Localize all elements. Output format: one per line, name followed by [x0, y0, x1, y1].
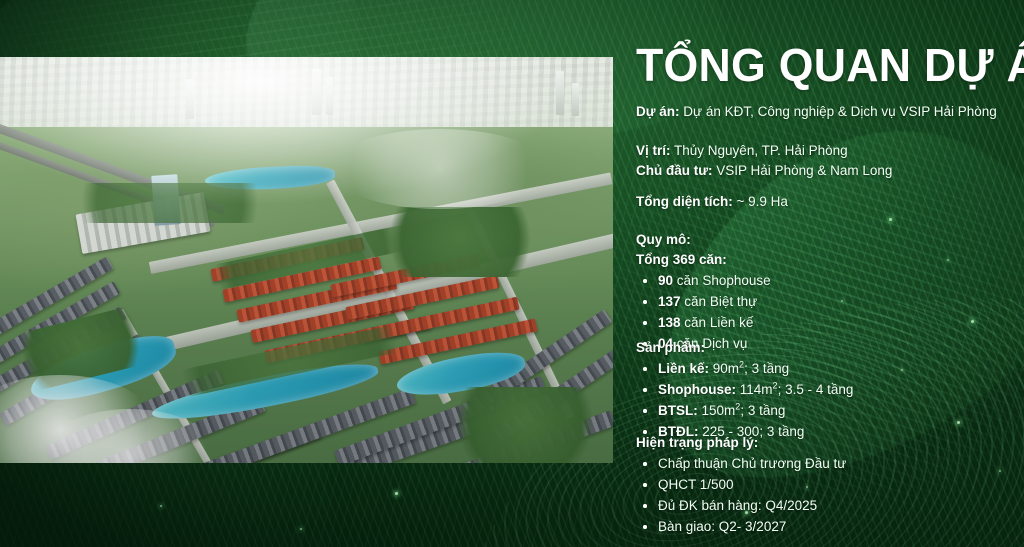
area-group: Tổng diện tích: ~ 9.9 Ha	[636, 192, 788, 212]
project-label: Dự án:	[636, 104, 680, 119]
slide-root: TỔNG QUAN DỰ ÁN Dự án: Dự án KĐT, Công n…	[0, 0, 1024, 547]
location-label: Vị trí:	[636, 143, 671, 158]
product-floors: ; 3 tầng	[740, 403, 785, 418]
product-floors: ; 3 tầng	[744, 361, 789, 376]
list-item: Chấp thuận Chủ trương Đầu tư	[636, 453, 846, 474]
project-overview-panel: TỔNG QUAN DỰ ÁN Dự án: Dự án KĐT, Công n…	[636, 0, 1024, 547]
scale-text: căn Liền kế	[684, 315, 753, 330]
location-investor-group: Vị trí: Thủy Nguyên, TP. Hải Phòng Chủ đ…	[636, 141, 892, 181]
scale-count: 138	[658, 315, 681, 330]
list-item: 138 căn Liền kế	[636, 312, 771, 333]
products-heading: Sản phẩm:	[636, 338, 853, 358]
page-title: TỔNG QUAN DỰ ÁN	[636, 42, 1024, 88]
list-item: 90 căn Shophouse	[636, 270, 771, 291]
legal-group: Hiện trạng pháp lý: Chấp thuận Chủ trươn…	[636, 433, 846, 537]
scale-text: căn Shophouse	[677, 273, 771, 288]
product-label: Shophouse:	[658, 382, 736, 397]
list-item: 137 căn Biệt thự	[636, 291, 771, 312]
area-line: Tổng diện tích: ~ 9.9 Ha	[636, 192, 788, 212]
area-value: ~ 9.9 Ha	[737, 194, 788, 209]
scale-subheading: Tổng 369 căn:	[636, 250, 771, 270]
area-label: Tổng diện tích:	[636, 194, 733, 209]
investor-value: VSIP Hải Phòng & Nam Long	[716, 163, 892, 178]
products-list: Liền kế: 90m2; 3 tầng Shophouse: 114m2; …	[636, 358, 853, 442]
products-group: Sản phẩm: Liền kế: 90m2; 3 tầng Shophous…	[636, 338, 853, 442]
scale-heading: Quy mô:	[636, 230, 771, 250]
project-value: Dự án KĐT, Công nghiệp & Dịch vụ VSIP Hả…	[683, 104, 996, 119]
legal-list: Chấp thuận Chủ trương Đầu tư QHCT 1/500 …	[636, 453, 846, 537]
product-label: Liền kế:	[658, 361, 709, 376]
scale-count: 90	[658, 273, 673, 288]
product-floors: ; 3.5 - 4 tầng	[778, 382, 854, 397]
project-line-group: Dự án: Dự án KĐT, Công nghiệp & Dịch vụ …	[636, 102, 997, 122]
product-label: BTSL:	[658, 403, 698, 418]
product-area: 114m	[740, 382, 773, 397]
list-item: BTSL: 150m2; 3 tầng	[636, 400, 853, 421]
list-item: Bàn giao: Q2- 3/2027	[636, 516, 846, 537]
list-item: Shophouse: 114m2; 3.5 - 4 tầng	[636, 379, 853, 400]
location-value: Thủy Nguyên, TP. Hải Phòng	[674, 143, 848, 158]
render-shading	[0, 57, 613, 463]
scale-count: 137	[658, 294, 681, 309]
product-area: 150m	[702, 403, 736, 418]
investor-line: Chủ đầu tư: VSIP Hải Phòng & Nam Long	[636, 161, 892, 181]
list-item: Đủ ĐK bán hàng: Q4/2025	[636, 495, 846, 516]
legal-heading: Hiện trạng pháp lý:	[636, 433, 846, 453]
list-item: QHCT 1/500	[636, 474, 846, 495]
investor-label: Chủ đầu tư:	[636, 163, 713, 178]
list-item: Liền kế: 90m2; 3 tầng	[636, 358, 853, 379]
scale-text: căn Biệt thự	[684, 294, 757, 309]
scale-group: Quy mô: Tổng 369 căn: 90 căn Shophouse 1…	[636, 230, 771, 354]
project-aerial-render	[0, 57, 613, 463]
product-area: 90m	[713, 361, 739, 376]
location-line: Vị trí: Thủy Nguyên, TP. Hải Phòng	[636, 141, 892, 161]
project-line: Dự án: Dự án KĐT, Công nghiệp & Dịch vụ …	[636, 102, 997, 122]
